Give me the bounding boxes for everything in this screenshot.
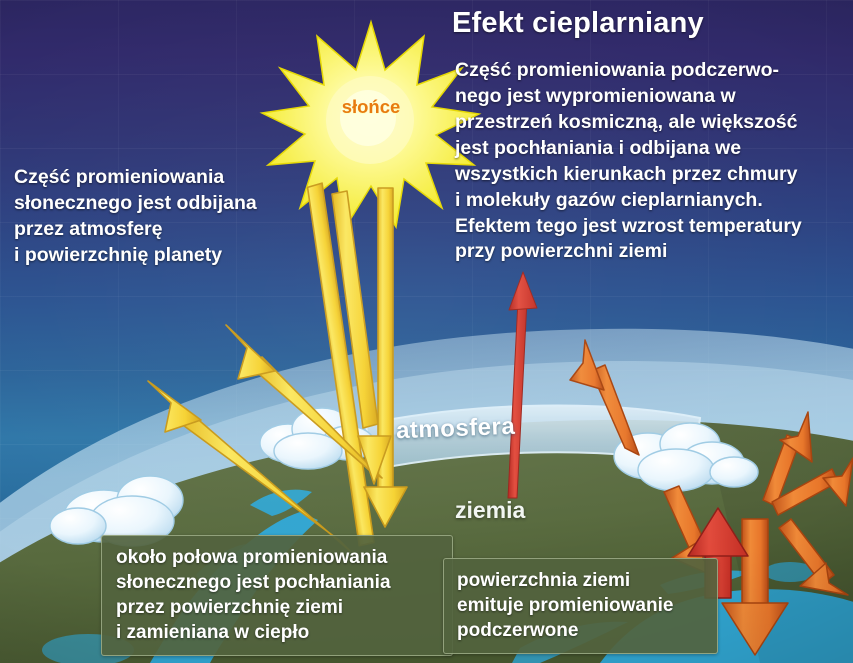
atmosphere-label: atmosfera bbox=[396, 413, 516, 446]
callout-box-emission-text: powierzchnia ziemi emituje promieniowani… bbox=[457, 568, 707, 643]
outgoing-infrared-arrowhead-3 bbox=[823, 458, 853, 506]
back-radiation-arrow-2 bbox=[742, 519, 768, 610]
callout-box-absorption: około połowa promieniowania słonecznego … bbox=[101, 535, 453, 656]
outgoing-infrared-arrowhead-1 bbox=[570, 340, 604, 390]
callout-box-absorption-text: około połowa promieniowania słonecznego … bbox=[116, 545, 442, 645]
sun-label: słońce bbox=[329, 96, 413, 118]
back-radiation-arrowhead-3 bbox=[800, 563, 848, 595]
earth-label: ziemia bbox=[455, 497, 525, 524]
left-note-paragraph: Część promieniowania słonecznego jest od… bbox=[14, 165, 314, 269]
greenhouse-effect-illustration: Efekt cieplarniany Część promieniowania … bbox=[0, 0, 853, 663]
intro-paragraph: Część promieniowania podczerwo- nego jes… bbox=[455, 58, 847, 265]
page-title: Efekt cieplarniany bbox=[452, 6, 704, 41]
back-radiation-arrowhead-2 bbox=[722, 603, 788, 655]
callout-box-emission: powierzchnia ziemi emituje promieniowani… bbox=[443, 558, 718, 654]
escaping-infrared-arrow bbox=[508, 272, 537, 498]
